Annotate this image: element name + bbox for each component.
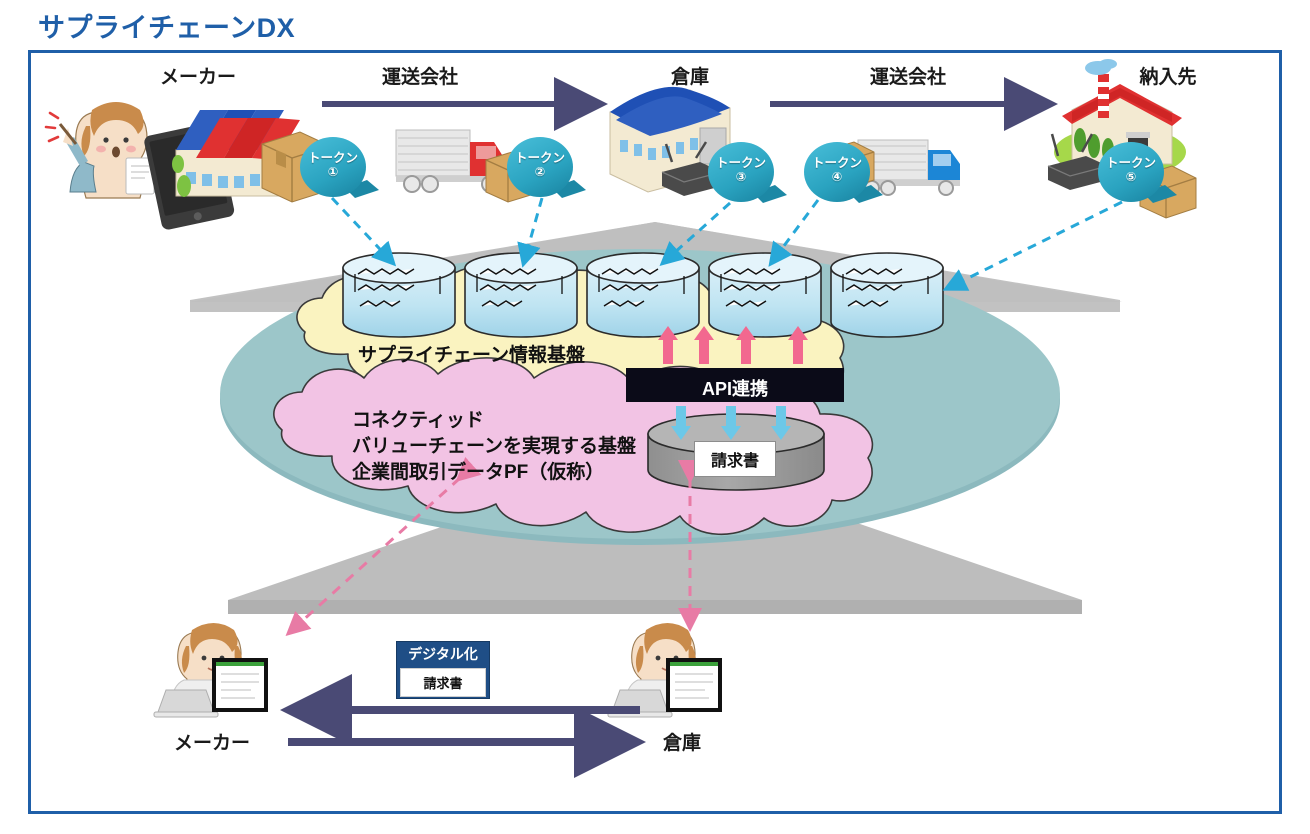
lower-cloud-line-1: コネクティッド xyxy=(352,408,636,434)
api-label: API連携 xyxy=(626,375,844,401)
bottom-label-maker: メーカー xyxy=(152,728,272,755)
lower-cloud-label: コネクティッド バリューチェーンを実現する基盤 企業間取引データPF（仮称） xyxy=(352,408,636,487)
flow-label-maker: メーカー xyxy=(138,62,258,89)
flow-label-carrier-2: 運送会社 xyxy=(848,62,968,89)
token-2 xyxy=(507,137,586,198)
token-1 xyxy=(300,137,379,198)
person-laptop-icon-right xyxy=(608,623,722,717)
invoice-store-label: 請求書 xyxy=(694,441,776,477)
bottom-label-warehouse: 倉庫 xyxy=(622,728,742,755)
digitalization-title: デジタル化 xyxy=(408,644,478,664)
diagram-canvas: サプライチェーンDX xyxy=(0,0,1310,834)
flow-label-warehouse: 倉庫 xyxy=(630,62,750,89)
token-3 xyxy=(708,142,787,203)
flow-label-delivery: 納入先 xyxy=(1108,62,1228,89)
upper-cloud-label: サプライチェーン情報基盤 xyxy=(358,343,585,369)
flow-arrows-bottom xyxy=(288,710,640,742)
digitalization-box: デジタル化 請求書 xyxy=(396,641,490,699)
flow-label-carrier-1: 運送会社 xyxy=(360,62,480,89)
digitalization-document: 請求書 xyxy=(400,668,485,697)
ledger-cylinders xyxy=(343,253,943,337)
person-laptop-icon-left xyxy=(154,623,268,717)
lower-cloud-line-2: バリューチェーンを実現する基盤 xyxy=(352,434,636,460)
diagram-artwork xyxy=(0,0,1310,834)
lower-cloud-line-3: 企業間取引データPF（仮称） xyxy=(352,460,636,486)
